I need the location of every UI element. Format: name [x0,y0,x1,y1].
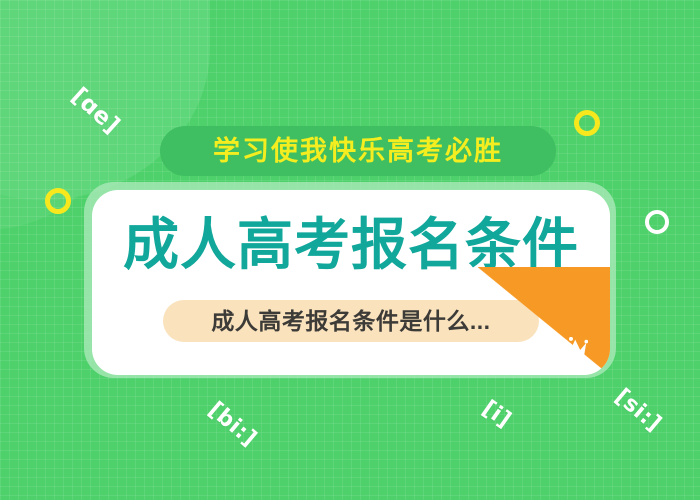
subtitle-text: 成人高考报名条件是什么... [211,310,490,333]
ring-yellow-top-right [574,110,600,136]
ring-white-right [645,210,669,234]
poster-canvas: [ɑe] [bi:] [i] [si:] 学习使我快乐高考必胜 成人高考报名条件… [0,0,700,500]
phonetic-tag-bi: [bi:] [203,397,261,451]
ring-yellow-left [45,188,71,214]
crown-icon [554,337,588,363]
page-title: 成人高考报名条件 [92,218,610,274]
corner-ribbon [478,267,610,375]
headline-banner-text: 学习使我快乐高考必胜 [213,138,503,165]
phonetic-tag-si: [si:] [610,384,666,437]
headline-banner: 学习使我快乐高考必胜 [160,126,556,176]
main-card: 成人高考报名条件 成人高考报名条件是什么... [92,190,610,375]
phonetic-tag-i: [i] [477,396,515,433]
